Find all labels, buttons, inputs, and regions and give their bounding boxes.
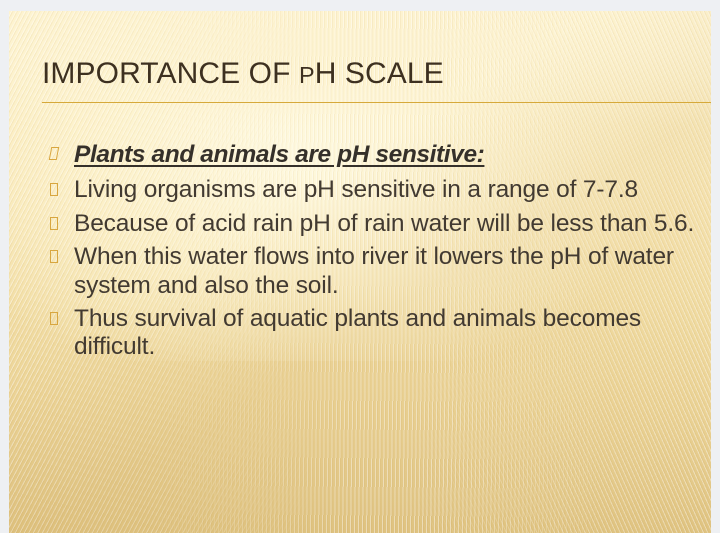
page-title: IMPORTANCE OF pH SCALE bbox=[42, 58, 711, 90]
slide-content: IMPORTANCE OF pH SCALE Plants and animal… bbox=[9, 11, 711, 533]
page-title-smallcap-p: p bbox=[299, 62, 315, 88]
list-item: When this water flows into river it lowe… bbox=[42, 243, 695, 300]
list-item-text: Thus survival of aquatic plants and anim… bbox=[74, 305, 641, 360]
list-item: Plants and animals are pH sensitive: bbox=[42, 141, 695, 169]
page-title-prefix: IMPORTANCE OF bbox=[42, 57, 299, 90]
title-block: IMPORTANCE OF pH SCALE bbox=[42, 58, 711, 90]
list-item: Because of acid rain pH of rain water wi… bbox=[42, 210, 695, 238]
list-item-text: When this water flows into river it lowe… bbox=[74, 243, 674, 298]
hollow-rectangle-bullet-icon bbox=[50, 250, 58, 263]
presentation-slide: IMPORTANCE OF pH SCALE Plants and animal… bbox=[9, 11, 711, 533]
list-item: Thus survival of aquatic plants and anim… bbox=[42, 305, 695, 362]
title-underline-rule bbox=[42, 102, 711, 103]
list-item: Living organisms are pH sensitive in a r… bbox=[42, 176, 695, 204]
hollow-rectangle-bullet-icon bbox=[49, 147, 60, 160]
page-title-suffix: H SCALE bbox=[315, 57, 444, 90]
hollow-rectangle-bullet-icon bbox=[50, 183, 58, 196]
hollow-rectangle-bullet-icon bbox=[50, 217, 58, 230]
page-background: IMPORTANCE OF pH SCALE Plants and animal… bbox=[0, 0, 720, 533]
list-item-text: Because of acid rain pH of rain water wi… bbox=[74, 210, 694, 237]
list-item-text: Plants and animals are pH sensitive: bbox=[74, 141, 484, 168]
list-item-text: Living organisms are pH sensitive in a r… bbox=[74, 176, 638, 203]
hollow-rectangle-bullet-icon bbox=[50, 312, 58, 325]
bullet-list: Plants and animals are pH sensitive: Liv… bbox=[42, 141, 695, 367]
